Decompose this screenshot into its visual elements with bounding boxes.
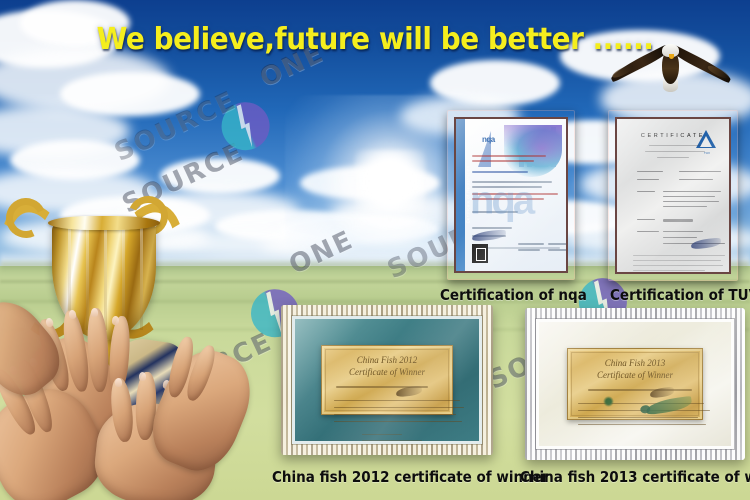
sourceone-logo-icon (214, 94, 278, 158)
award-frame-nqa[interactable]: Certificate of Registration nqa nq (447, 110, 575, 280)
plaque-title-2012: China Fish 2012 (322, 355, 452, 365)
plaque-subtitle-2013: Certificate of Winner (568, 370, 702, 380)
award-frame-tuv[interactable]: CERTIFICATE TUV (608, 110, 738, 281)
promo-banner: SOURCE ONE SOURCE SOURCE ONE SOURCE SOUR… (0, 0, 750, 500)
caption-tuv: Certification of TUV (610, 286, 750, 304)
nqa-spine: Certificate of Registration (456, 119, 465, 271)
award-frame-chinafish-2013[interactable]: China Fish 2013 Certificate of Winner (525, 308, 745, 460)
chinafish-2013-plaque: China Fish 2013 Certificate of Winner (567, 348, 703, 420)
plaque-subtitle-2012: Certificate of Winner (322, 367, 452, 377)
tuv-certificate-document: CERTIFICATE TUV (617, 119, 729, 272)
award-frame-chinafish-2012[interactable]: China Fish 2012 Certificate of Winner (281, 305, 493, 455)
page-title: We believe,future will be better ...... (26, 22, 724, 57)
nqa-watermark: nqa (470, 179, 532, 224)
cloud (160, 158, 280, 194)
caption-nqa: Certification of nqa (440, 286, 587, 304)
chinafish-2012-plaque: China Fish 2012 Certificate of Winner (321, 345, 453, 415)
nqa-certificate-document: Certificate of Registration nqa nq (456, 119, 566, 271)
caption-chinafish-2012: China fish 2012 certificate of winner (272, 468, 549, 486)
sun-core (355, 150, 425, 212)
nqa-logo-text: nqa (482, 135, 495, 144)
plaque-title-2013: China Fish 2013 (568, 358, 702, 368)
caption-chinafish-2013: China fish 2013 certificate of winner (520, 468, 750, 486)
